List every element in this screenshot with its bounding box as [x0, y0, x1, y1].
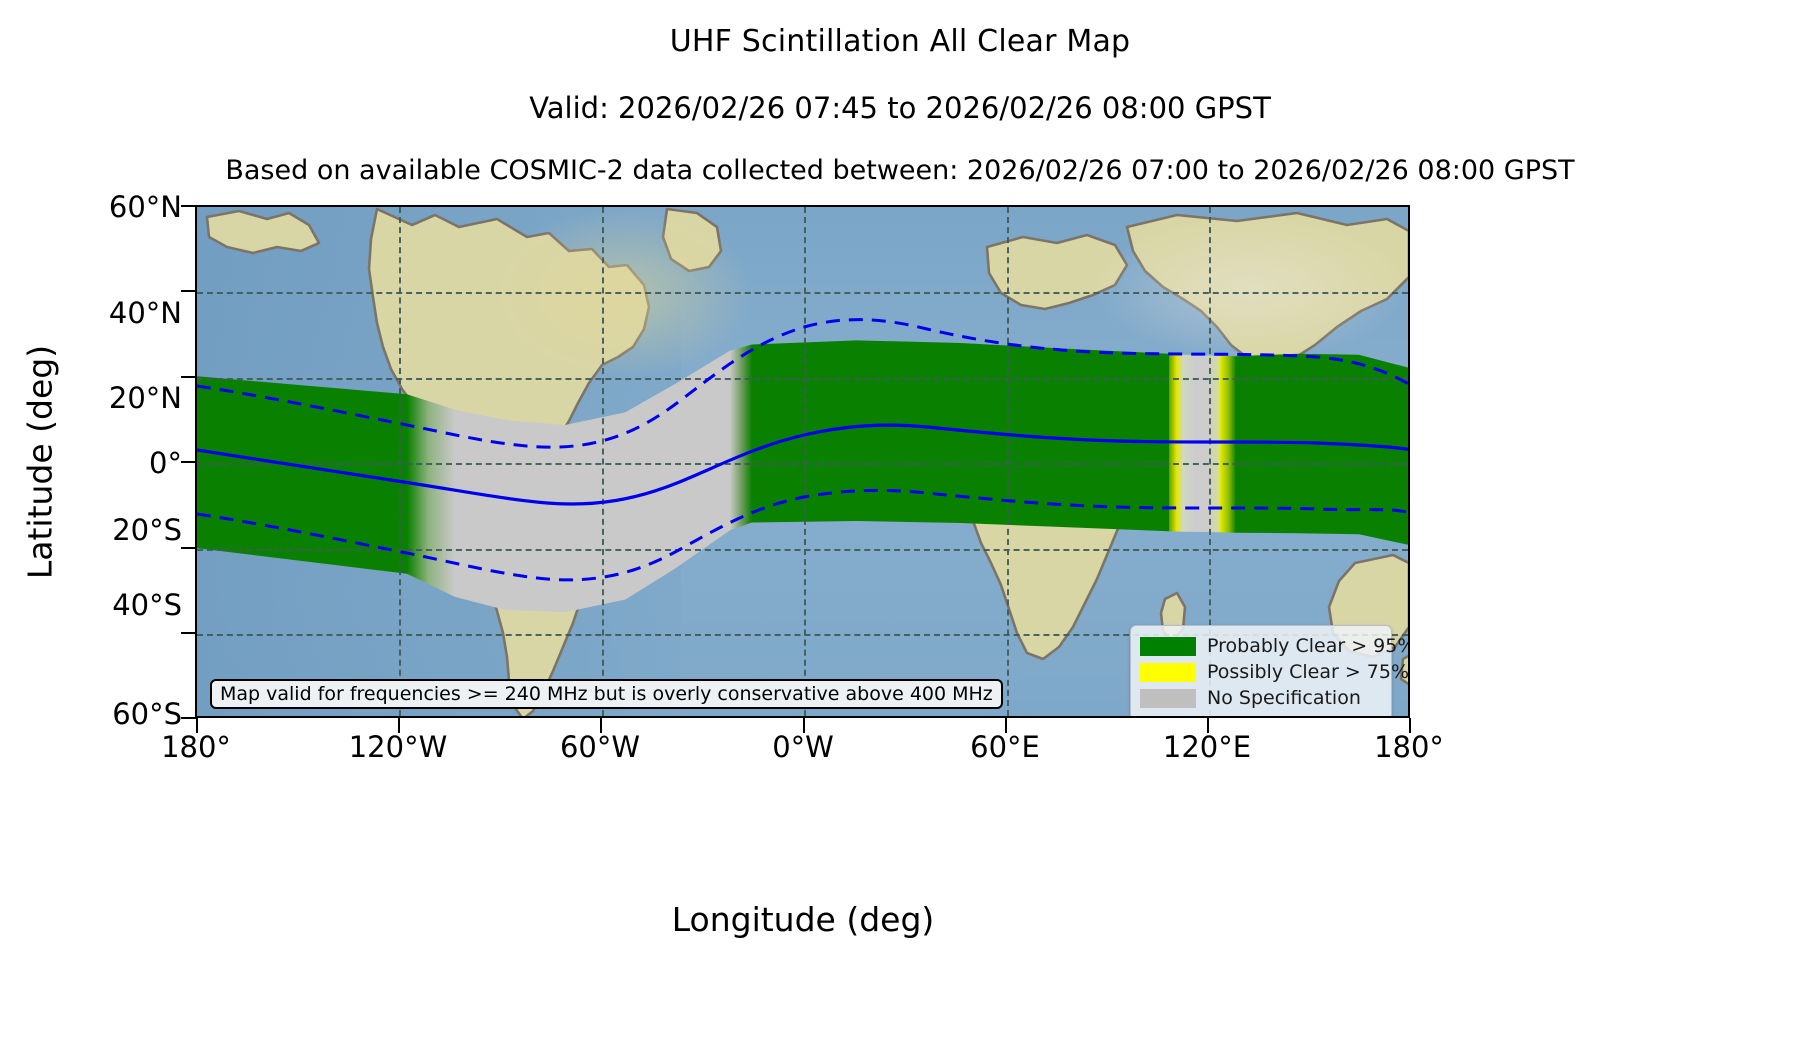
y-tick-label-40s: 40°S [112, 588, 182, 622]
x-tick-label-60w: 60°W [560, 730, 640, 764]
south-boundary-line [197, 490, 1410, 579]
x-tick-label-120e: 120°E [1163, 730, 1251, 764]
x-tick-label-120w: 120°W [349, 730, 448, 764]
validity-subtitle: Valid: 2026/02/26 07:45 to 2026/02/26 08… [0, 91, 1800, 125]
y-tick-label-60n: 60°N [109, 190, 182, 224]
data-source-note: Based on available COSMIC-2 data collect… [0, 155, 1800, 186]
x-axis-title: Longitude (deg) [672, 900, 935, 939]
legend-label-probably-clear: Probably Clear > 95% Probability Clear [1207, 635, 1410, 657]
tick-x-0 [803, 718, 805, 733]
y-tick-label-40n: 40°N [109, 296, 182, 330]
legend-swatch-green [1140, 637, 1196, 656]
legend-item-possibly-clear[interactable]: Possibly Clear > 75% Probability Clear [1140, 659, 1382, 685]
legend-item-no-specification[interactable]: No Specification [1140, 685, 1382, 711]
legend-label-possibly-clear: Possibly Clear > 75% Probability Clear [1207, 661, 1410, 683]
tick-y-60s [181, 717, 196, 719]
tick-y-20s [181, 547, 196, 549]
tick-x-120w [398, 718, 400, 733]
legend-label-no-specification: No Specification [1207, 687, 1361, 709]
y-tick-label-60s: 60°S [112, 697, 182, 731]
tick-x-60e [1005, 718, 1007, 733]
tick-y-40s [181, 632, 196, 634]
y-tick-label-0: 0° [149, 446, 182, 480]
y-tick-label-20s: 20°S [112, 513, 182, 547]
map-legend[interactable]: Probably Clear > 95% Probability Clear P… [1130, 625, 1392, 718]
x-tick-label-180e: 180° [1374, 730, 1444, 764]
y-axis-title: Latitude (deg) [21, 345, 60, 579]
legend-swatch-yellow [1140, 663, 1196, 682]
tick-y-40n [181, 290, 196, 292]
page-title: UHF Scintillation All Clear Map [0, 24, 1800, 59]
legend-swatch-gray [1140, 689, 1196, 708]
legend-item-probably-clear[interactable]: Probably Clear > 95% Probability Clear [1140, 633, 1382, 659]
north-boundary-line [197, 320, 1410, 448]
tick-x-60w [600, 718, 602, 733]
tick-x-120e [1207, 718, 1209, 733]
figure-canvas: UHF Scintillation All Clear Map Valid: 2… [0, 0, 1800, 1050]
tick-y-60n [181, 205, 196, 207]
y-tick-label-20n: 20°N [109, 381, 182, 415]
frequency-note-text: Map valid for frequencies >= 240 MHz but… [220, 683, 993, 705]
x-tick-label-60e: 60°E [970, 730, 1040, 764]
tick-x-180e [1409, 718, 1411, 733]
magnetic-equator-line [197, 425, 1410, 504]
tick-y-20n [181, 376, 196, 378]
frequency-note-box: Map valid for frequencies >= 240 MHz but… [210, 679, 1003, 709]
x-tick-label-0: 0°W [772, 730, 834, 764]
tick-x-180w [196, 718, 198, 733]
title-block: UHF Scintillation All Clear Map Valid: 2… [0, 0, 1800, 186]
x-tick-label-180w: 180° [161, 730, 231, 764]
tick-y-0 [181, 461, 196, 463]
map-plot-area[interactable]: Probably Clear > 95% Probability Clear P… [195, 205, 1410, 718]
